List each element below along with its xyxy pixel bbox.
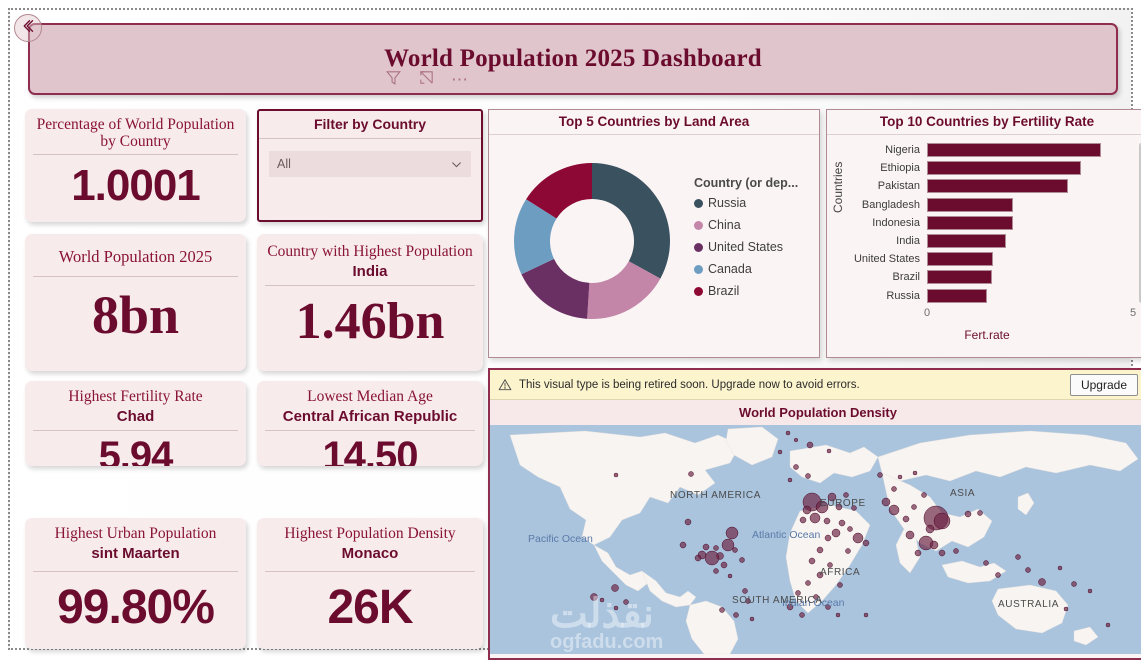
bar-track [927, 196, 1133, 214]
chevron-down-icon[interactable] [450, 158, 463, 171]
country-dropdown-value: All [277, 157, 450, 171]
legend-item[interactable]: Russia [694, 196, 813, 210]
dashboard-header: World Population 2025 Dashboard ⋯ [28, 23, 1118, 95]
bar-category-label: Russia [849, 290, 927, 302]
continent-label-south-america: SOUTH AMERICA [732, 595, 823, 606]
country-dropdown[interactable]: All [269, 151, 471, 177]
warning-message: This visual type is being retired soon. … [519, 379, 1063, 391]
legend-swatch-icon [694, 265, 703, 274]
bar-category-label: Bangladesh [849, 199, 927, 211]
kpi-value: 26K [257, 572, 483, 644]
y-axis-label: Countries [831, 162, 845, 213]
more-options-icon[interactable]: ⋯ [451, 75, 470, 85]
visual-header-icons: ⋯ [385, 69, 470, 91]
kpi-subtitle: India [257, 262, 483, 284]
warning-triangle-icon [498, 378, 512, 392]
continent-label-asia: ASIA [950, 488, 975, 499]
world-map[interactable]: Pacific Ocean Atlantic Ocean Indian Ocea… [490, 425, 1141, 654]
kpi-title: Highest Fertility Rate [25, 381, 246, 407]
page-title: World Population 2025 Dashboard [30, 25, 1116, 73]
continent-label-north-america: NORTH AMERICA [670, 490, 761, 501]
upgrade-button[interactable]: Upgrade [1070, 374, 1138, 396]
bar-category-label: Brazil [849, 271, 927, 283]
bar-category-label: India [849, 235, 927, 247]
continent-label-africa: AFRICA [820, 567, 860, 578]
continent-label-europe: EUROPE [820, 498, 866, 509]
legend-title: Country (or dep... [694, 176, 813, 190]
retirement-warning-bar: This visual type is being retired soon. … [490, 370, 1141, 400]
focus-mode-icon[interactable] [418, 69, 435, 91]
legend-swatch-icon [694, 287, 703, 296]
kpi-value: 1.0001 [25, 155, 246, 217]
bar-category-label: Indonesia [849, 217, 927, 229]
bar-row: Pakistan [849, 177, 1133, 195]
legend-label: United States [708, 240, 783, 254]
bar-category-label: Ethiopia [849, 162, 927, 174]
bar-row: Bangladesh [849, 196, 1133, 214]
bar-track [927, 287, 1133, 305]
kpi-card-world-population-2025: World Population 2025 8bn [25, 234, 246, 371]
kpi-title: World Population 2025 [25, 234, 246, 268]
bar-row: Russia [849, 287, 1133, 305]
slicer-title: Filter by Country [259, 111, 481, 139]
kpi-card-country-with-highest-population: Country with Highest Population India 1.… [257, 234, 483, 371]
bar-category-label: United States [849, 253, 927, 265]
kpi-value: 5.94 [25, 431, 246, 466]
kpi-card-highest-fertility-rate: Highest Fertility Rate Chad 5.94 [25, 381, 246, 466]
legend-label: Russia [708, 196, 746, 210]
bar-fill[interactable] [927, 270, 992, 284]
country-filter-slicer[interactable]: Filter by Country All [257, 109, 483, 222]
legend-swatch-icon [694, 243, 703, 252]
legend-item[interactable]: Brazil [694, 284, 813, 298]
bar-track [927, 232, 1133, 250]
bar-fill[interactable] [927, 161, 1081, 175]
bar-category-label: Pakistan [849, 180, 927, 192]
kpi-value: 14.50 [257, 431, 483, 466]
kpi-value: 8bn [25, 277, 246, 353]
bar-fill[interactable] [927, 143, 1101, 157]
donut-slice[interactable] [592, 163, 670, 279]
bar-fill[interactable] [927, 216, 1013, 230]
bar-row: Indonesia [849, 214, 1133, 232]
kpi-subtitle: Monaco [257, 544, 483, 566]
legend-label: China [708, 218, 741, 232]
bar-fill[interactable] [927, 198, 1013, 212]
fertility-rate-bar-visual: Top 10 Countries by Fertility Rate Count… [826, 109, 1141, 358]
kpi-title: Highest Urban Population [25, 518, 246, 544]
visual-title: Top 10 Countries by Fertility Rate [827, 110, 1141, 135]
donut-chart[interactable] [489, 151, 694, 331]
x-axis-tick: 5 [1130, 307, 1136, 319]
kpi-subtitle: sint Maarten [25, 544, 246, 566]
ocean-label-pacific: Pacific Ocean [528, 533, 593, 545]
kpi-card-highest-population-density: Highest Population Density Monaco 26K [257, 518, 483, 649]
bar-row: India [849, 232, 1133, 250]
kpi-subtitle: Central African Republic [257, 407, 483, 429]
legend-item[interactable]: United States [694, 240, 813, 254]
bar-track [927, 214, 1133, 232]
continent-label-australia: AUSTRALIA [998, 599, 1059, 610]
bar-track [927, 268, 1133, 286]
legend-item[interactable]: Canada [694, 262, 813, 276]
bar-row: Ethiopia [849, 159, 1133, 177]
x-axis-ticks: 05 [927, 307, 1133, 321]
ocean-label-atlantic: Atlantic Ocean [752, 529, 820, 541]
kpi-value: 99.80% [25, 572, 246, 644]
bar-row: United States [849, 250, 1133, 268]
visual-title: Top 5 Countries by Land Area [489, 110, 819, 135]
legend-label: Brazil [708, 284, 739, 298]
kpi-title: Highest Population Density [257, 518, 483, 544]
legend-swatch-icon [694, 221, 703, 230]
kpi-card-lowest-median-age: Lowest Median Age Central African Republ… [257, 381, 483, 466]
bar-fill[interactable] [927, 252, 993, 266]
filter-icon[interactable] [385, 69, 402, 91]
report-canvas: World Population 2025 Dashboard ⋯ Percen… [8, 8, 1133, 650]
kpi-title: Country with Highest Population [257, 234, 483, 262]
visual-title: World Population Density [490, 400, 1141, 425]
bar-track [927, 141, 1133, 159]
kpi-title: Lowest Median Age [257, 381, 483, 407]
kpi-title: Percentage of World Population by Countr… [25, 109, 246, 153]
legend-item[interactable]: China [694, 218, 813, 232]
kpi-value: 1.46bn [257, 286, 483, 358]
bar-row: Brazil [849, 268, 1133, 286]
bar-fill[interactable] [927, 289, 987, 303]
land-area-donut-visual: Top 5 Countries by Land Area Country (or… [488, 109, 820, 358]
bar-track [927, 250, 1133, 268]
chevron-double-left-icon [19, 17, 37, 40]
bar-fill[interactable] [927, 179, 1068, 193]
x-axis-tick: 0 [924, 307, 930, 319]
donut-legend: Country (or dep... RussiaChinaUnited Sta… [694, 176, 819, 306]
population-density-map-visual: This visual type is being retired soon. … [488, 368, 1141, 660]
bar-fill[interactable] [927, 234, 1006, 248]
bar-rows: NigeriaEthiopiaPakistanBangladeshIndones… [849, 141, 1133, 305]
legend-label: Canada [708, 262, 752, 276]
kpi-card-percentage-of-world-population: Percentage of World Population by Countr… [25, 109, 246, 222]
kpi-card-highest-urban-population: Highest Urban Population sint Maarten 99… [25, 518, 246, 649]
x-axis-label: Fert.rate [827, 328, 1141, 342]
bar-track [927, 177, 1133, 195]
legend-swatch-icon [694, 199, 703, 208]
back-button[interactable] [14, 14, 42, 42]
bar-category-label: Nigeria [849, 144, 927, 156]
bar-row: Nigeria [849, 141, 1133, 159]
bar-track [927, 159, 1133, 177]
kpi-subtitle: Chad [25, 407, 246, 429]
